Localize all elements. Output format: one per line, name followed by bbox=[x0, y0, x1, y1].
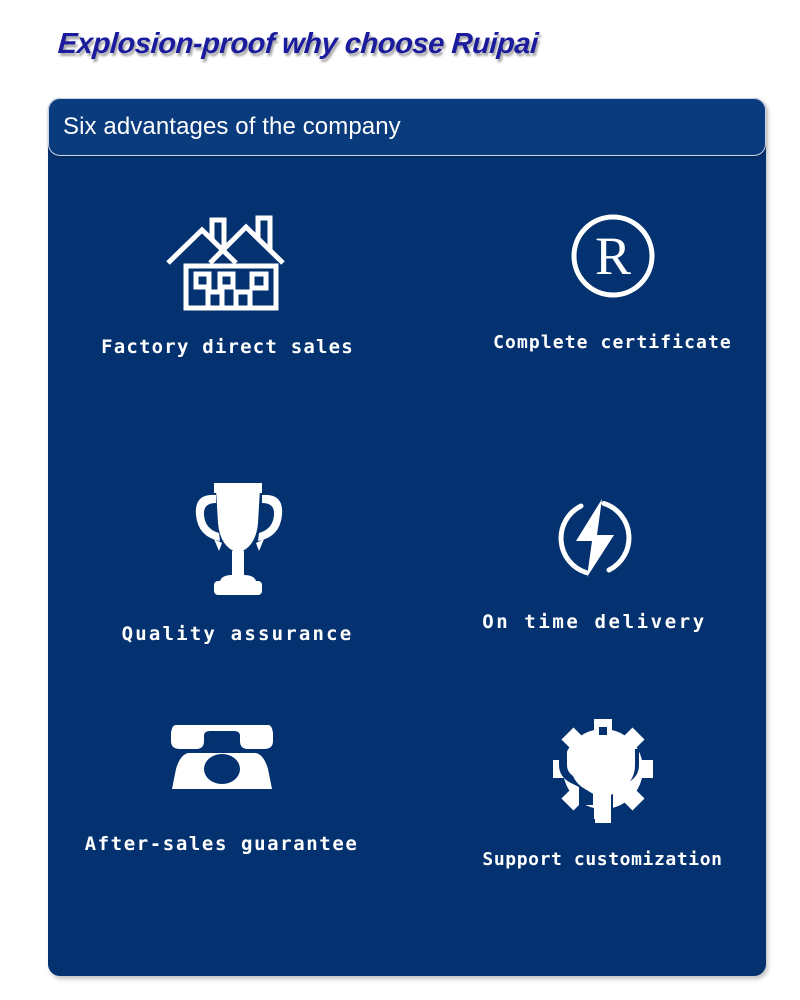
panel-header-bar: Six advantages of the company bbox=[48, 98, 766, 156]
advantage-item-on-time-delivery: On time delivery bbox=[415, 433, 774, 696]
gear-wrench-icon bbox=[549, 715, 657, 827]
svg-text:R: R bbox=[594, 226, 630, 286]
advantages-grid: Factory direct sales R Complete certific… bbox=[48, 170, 766, 960]
advantage-item-factory-direct-sales: Factory direct sales bbox=[48, 170, 407, 433]
advantage-item-after-sales-guarantee: After-sales guarantee bbox=[42, 697, 401, 960]
page-title: Explosion-proof why choose Ruipai bbox=[57, 28, 539, 61]
telephone-icon bbox=[166, 719, 278, 795]
advantage-label: On time delivery bbox=[482, 611, 707, 633]
advantage-label: Support customization bbox=[482, 849, 722, 870]
advantage-item-support-customization: Support customization bbox=[423, 697, 782, 960]
panel-header-title: Six advantages of the company bbox=[63, 113, 401, 141]
advantage-label: After-sales guarantee bbox=[85, 833, 359, 855]
lightning-bolt-circle-icon bbox=[552, 495, 638, 581]
factory-house-icon bbox=[164, 208, 292, 312]
advantage-label: Factory direct sales bbox=[101, 336, 354, 358]
trophy-icon bbox=[186, 477, 290, 601]
advantage-label: Complete certificate bbox=[493, 332, 732, 353]
advantage-item-complete-certificate: R Complete certificate bbox=[433, 170, 792, 433]
advantage-item-quality-assurance: Quality assurance bbox=[58, 433, 417, 696]
advantage-label: Quality assurance bbox=[122, 623, 354, 645]
registered-trademark-icon: R bbox=[567, 210, 659, 302]
